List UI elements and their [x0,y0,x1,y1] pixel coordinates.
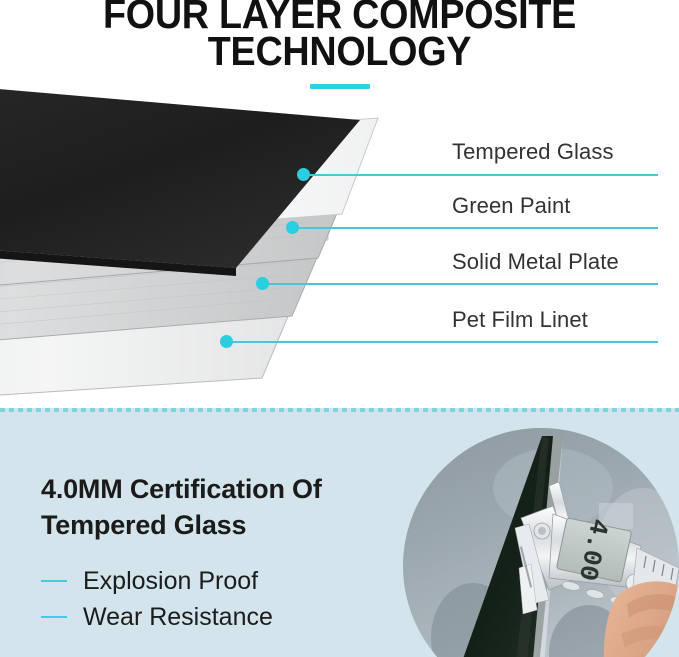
leader-line-pet-film [226,341,658,343]
certification-heading-line-2: Tempered Glass [41,510,246,540]
title-line-2: TECHNOLOGY [27,33,652,70]
section-title: FOUR LAYER COMPOSITE TECHNOLOGY [0,0,679,89]
layer-marker-dot-pet-film [220,335,233,348]
certification-heading: 4.0MM Certification Of Tempered Glass [41,471,391,543]
caliper-photo-illustration: 4.00 [403,428,679,657]
layer-label-tempered-glass: Tempered Glass [452,139,614,165]
dash-bullet-icon [41,616,67,618]
certification-heading-line-1: 4.0MM Certification Of [41,474,322,504]
four-layer-technology-section: FOUR LAYER COMPOSITE TECHNOLOGY Tempered… [0,0,679,408]
title-accent-rule [310,84,370,89]
leader-line-solid-metal-plate [262,283,658,285]
list-item: Wear Resistance [41,599,273,635]
feature-list: Explosion Proof Wear Resistance [41,563,273,635]
dash-bullet-icon [41,580,67,582]
feature-label: Explosion Proof [83,567,258,596]
layer-label-green-paint: Green Paint [452,193,571,219]
caliper-photo: 4.00 [403,428,679,657]
layer-marker-dot-green-paint [286,221,299,234]
layer-marker-dot-solid-metal-plate [256,277,269,290]
list-item: Explosion Proof [41,563,273,599]
dashed-divider [0,408,679,412]
tempered-glass-certification-section: 4.0MM Certification Of Tempered Glass Ex… [0,408,679,657]
leader-line-green-paint [292,227,658,229]
layer-marker-dot-tempered-glass [297,168,310,181]
feature-label: Wear Resistance [83,603,273,632]
layer-label-pet-film: Pet Film Linet [452,307,588,333]
leader-line-tempered-glass [303,174,658,176]
layer-label-solid-metal-plate: Solid Metal Plate [452,249,619,275]
